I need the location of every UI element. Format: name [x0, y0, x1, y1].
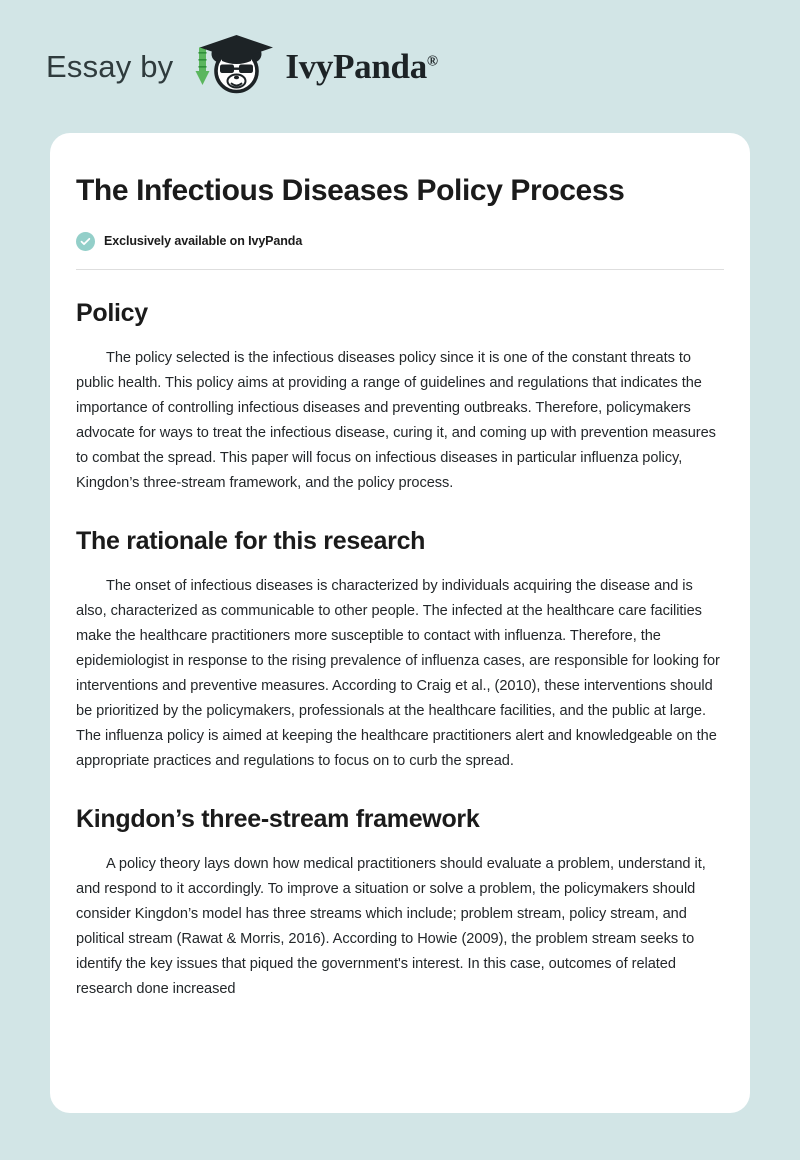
badge-label: Exclusively available on IvyPanda [104, 234, 302, 248]
section-paragraph: The policy selected is the infectious di… [76, 346, 724, 496]
check-circle-icon [76, 232, 95, 251]
section-heading-policy: Policy [76, 298, 724, 328]
essay-by-label: Essay by [46, 49, 173, 85]
brand-header: Essay by [0, 0, 800, 133]
panda-graduate-icon [187, 33, 279, 101]
section-heading-rationale: The rationale for this research [76, 526, 724, 556]
title-divider [76, 269, 724, 270]
registered-trademark-icon: ® [427, 53, 438, 69]
brand-wordmark: IvyPanda® [285, 47, 437, 87]
document-card: The Infectious Diseases Policy Process E… [50, 133, 750, 1113]
page-title: The Infectious Diseases Policy Process [76, 173, 724, 210]
section-paragraph: The onset of infectious diseases is char… [76, 574, 724, 774]
section-heading-kingdon: Kingdon’s three-stream framework [76, 804, 724, 834]
ivypanda-logo[interactable]: IvyPanda® [187, 33, 437, 101]
exclusivity-badge: Exclusively available on IvyPanda [76, 232, 724, 251]
section-paragraph: A policy theory lays down how medical pr… [76, 852, 724, 1002]
brand-name-text: IvyPanda [285, 47, 427, 86]
